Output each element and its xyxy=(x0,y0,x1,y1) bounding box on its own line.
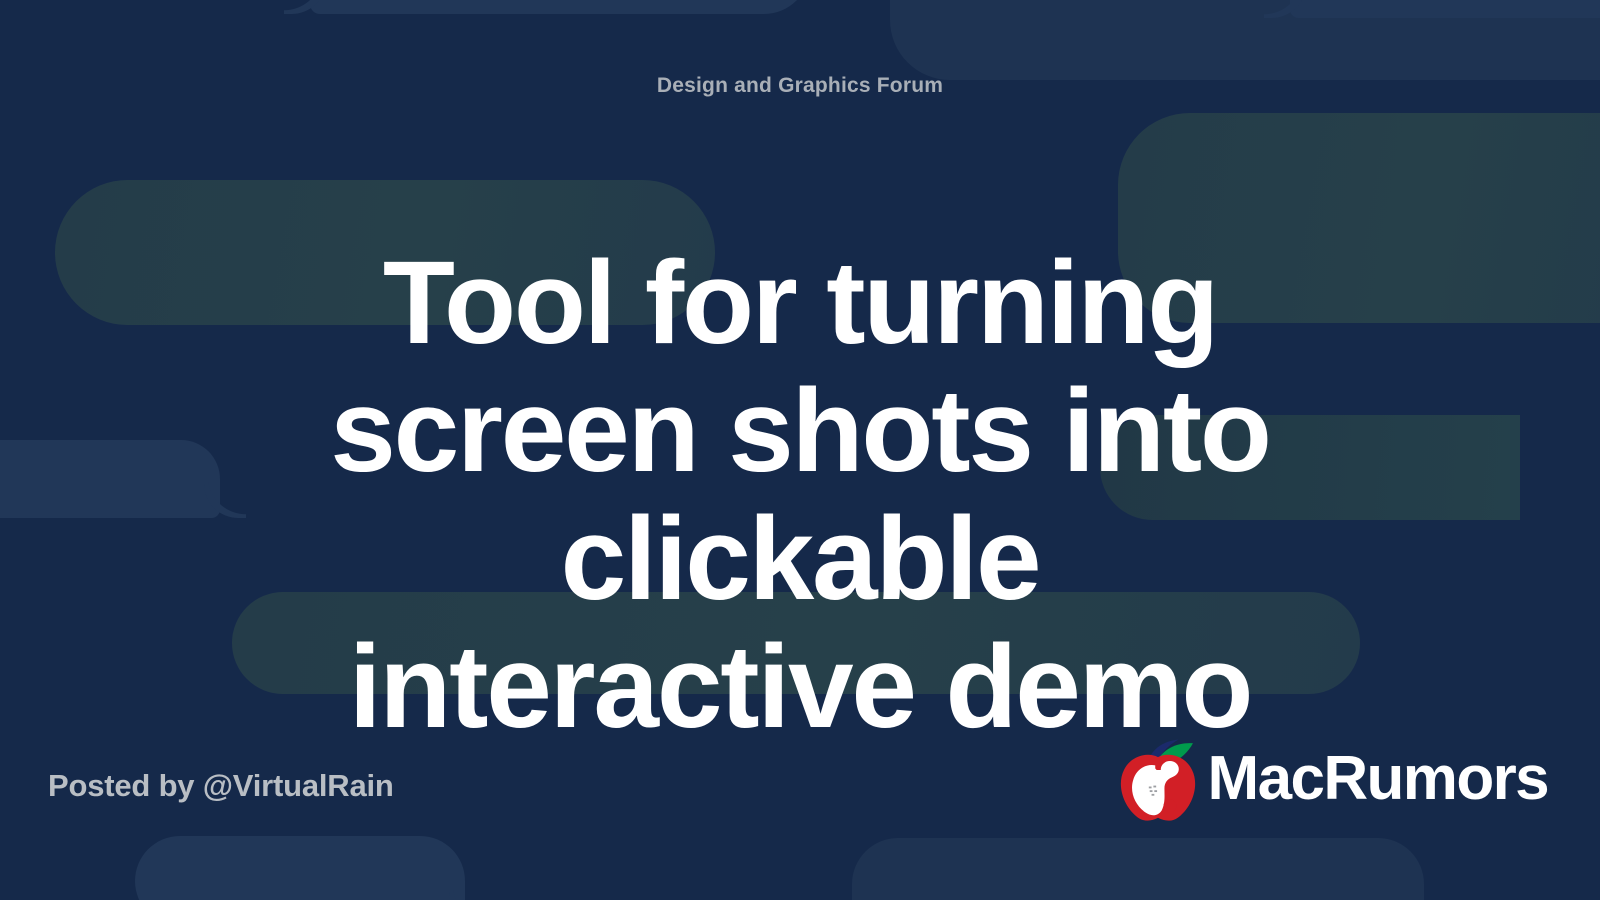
macrumors-apple-icon xyxy=(1112,735,1204,827)
forum-label: Design and Graphics Forum xyxy=(0,74,1600,98)
macrumors-wordmark: MacRumors xyxy=(1208,748,1548,814)
card-content: Design and Graphics Forum Tool for turni… xyxy=(0,0,1600,900)
social-share-card: Design and Graphics Forum Tool for turni… xyxy=(0,0,1600,900)
byline: Posted by @VirtualRain xyxy=(48,768,394,804)
macrumors-brand-lockup[interactable]: MacRumors xyxy=(1112,735,1548,827)
page-title: Tool for turning screen shots into click… xyxy=(160,239,1440,751)
